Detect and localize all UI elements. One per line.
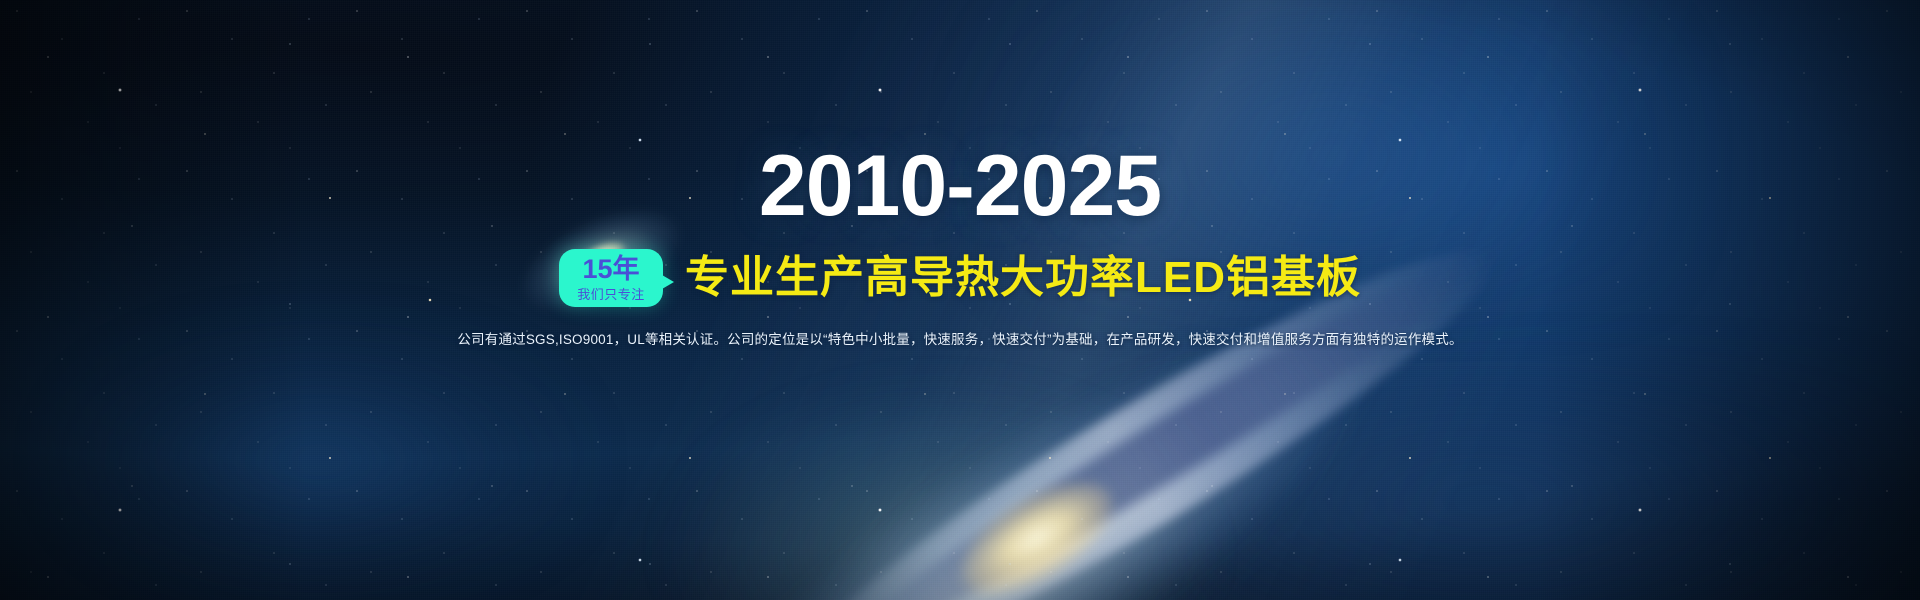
banner-content: 2010-2025 15年 我们只专注 专业生产高导热大功率LED铝基板 公司有… [0, 0, 1920, 600]
hero-banner: 2010-2025 15年 我们只专注 专业生产高导热大功率LED铝基板 公司有… [0, 0, 1920, 600]
badge-sub-label: 我们只专注 [577, 288, 645, 301]
company-description: 公司有通过SGS,ISO9001，UL等相关认证。公司的定位是以“特色中小批量，… [457, 329, 1462, 351]
headline-row: 15年 我们只专注 专业生产高导热大功率LED铝基板 [559, 249, 1361, 307]
badge-years-label: 15年 [582, 256, 639, 283]
product-headline: 专业生产高导热大功率LED铝基板 [685, 256, 1361, 300]
anniversary-badge: 15年 我们只专注 [559, 249, 663, 307]
year-range-title: 2010-2025 [759, 143, 1161, 229]
